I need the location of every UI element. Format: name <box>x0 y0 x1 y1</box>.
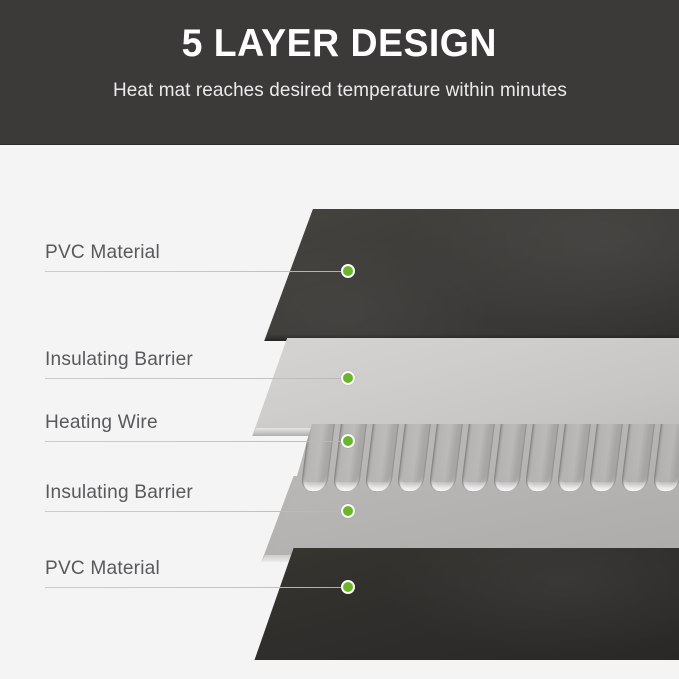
callout-dot-pvc-bottom <box>341 580 355 594</box>
heating-wire-grooves <box>243 424 679 552</box>
heating-wire-groove <box>620 424 655 492</box>
heating-wire-groove <box>428 424 463 492</box>
heating-wire-groove <box>524 424 559 492</box>
heating-wire-groove <box>588 424 623 492</box>
callout-label: PVC Material <box>45 557 160 580</box>
callout-leader-line <box>45 378 348 379</box>
callout-dot-pvc-top <box>341 264 355 278</box>
infographic-page: 5 LAYER DESIGN Heat mat reaches desired … <box>0 0 679 679</box>
header-band: 5 LAYER DESIGN Heat mat reaches desired … <box>0 0 679 145</box>
heating-wire-groove <box>556 424 591 492</box>
callout-leader-line <box>45 511 348 512</box>
slab-sheen <box>243 209 679 341</box>
heating-wire-groove <box>364 424 399 492</box>
callout-dot-barrier-top <box>341 371 355 385</box>
callout-label: PVC Material <box>45 241 160 264</box>
callout-label: Insulating Barrier <box>45 481 193 504</box>
callout-leader-line <box>45 441 348 442</box>
callout-leader-line <box>45 271 348 272</box>
callout-dot-heating-wire <box>341 434 355 448</box>
layer-diagram: PVC Material Insulating Barrier Heating … <box>0 146 679 679</box>
layer-slab-pvc-top <box>243 209 679 341</box>
layer-slab-pvc-bottom <box>243 548 679 660</box>
callout-dot-barrier-bottom <box>341 504 355 518</box>
layer-slab-barrier-top <box>243 338 679 436</box>
heating-wire-groove <box>492 424 527 492</box>
heating-wire-groove <box>652 424 679 492</box>
heating-wire-groove <box>460 424 495 492</box>
slab-face <box>243 338 679 436</box>
callout-label: Heating Wire <box>45 411 158 434</box>
callout-leader-line <box>45 587 348 588</box>
page-title: 5 LAYER DESIGN <box>182 24 497 65</box>
slab-sheen <box>243 548 679 660</box>
heating-wire-groove <box>396 424 431 492</box>
callout-label: Insulating Barrier <box>45 348 193 371</box>
heating-wire-groove <box>300 424 335 492</box>
layer-slab-heating-wire <box>243 424 679 552</box>
page-subtitle: Heat mat reaches desired temperature wit… <box>113 79 567 102</box>
